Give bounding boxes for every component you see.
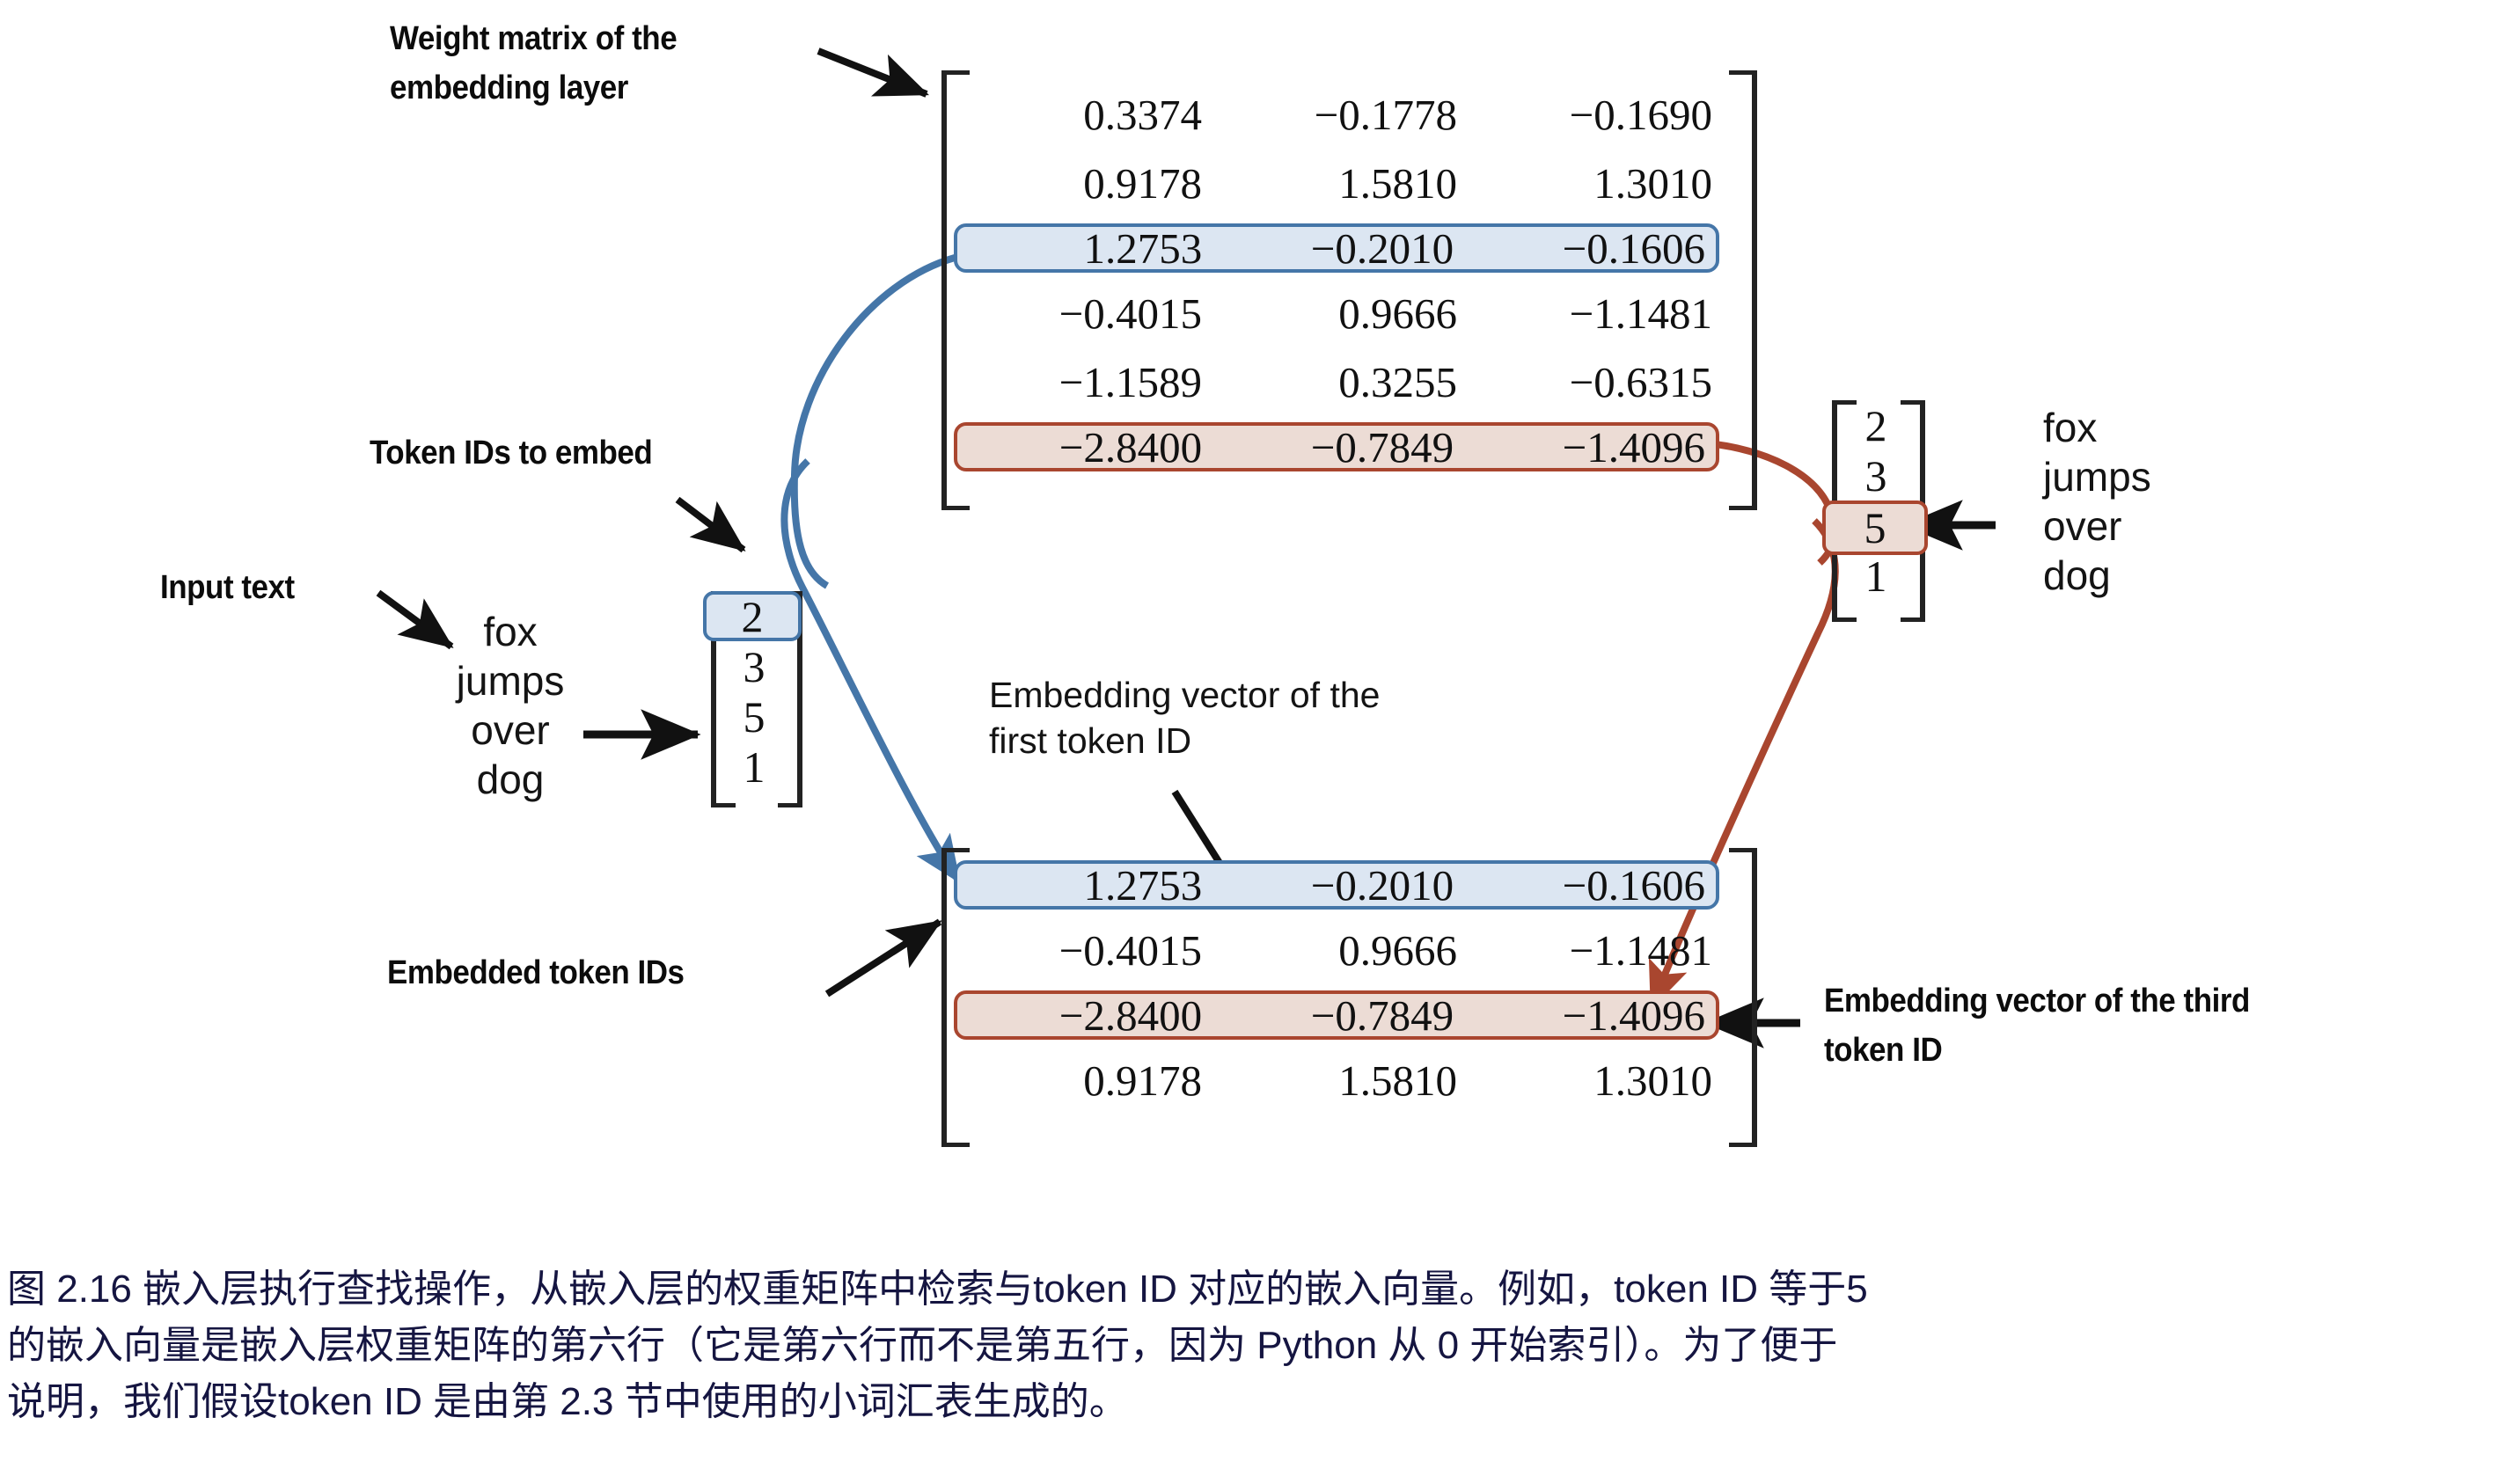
embedded-matrix-row-highlight-red: −2.8400 −0.7849 −1.4096 [954, 990, 1719, 1040]
cell-e-0-0: 1.2753 [968, 860, 1202, 910]
caption-line-1: 图 2.16 嵌入层执行查找操作，从嵌入层的权重矩阵中检索与token ID 对… [7, 1261, 2513, 1318]
token-id-right-1: 3 [1835, 450, 1916, 501]
right-word-dog: dog [2043, 551, 2237, 600]
right-words: fox jumps over dog [2043, 403, 2237, 600]
cell-w-3-1: 0.9666 [1202, 289, 1457, 339]
token-id-right-0-value: 2 [1865, 400, 1887, 451]
token-id-right-2: 5 [1822, 501, 1928, 555]
arrow-weight-matrix [818, 51, 927, 94]
label-embedded-token-ids: Embedded token IDs [387, 948, 840, 997]
cell-w-2-2: −0.1606 [1454, 223, 1705, 274]
cell-w-2-0: 1.2753 [968, 223, 1202, 274]
cell-w-3-2: −1.1481 [1457, 289, 1712, 339]
weight-matrix-row-highlight-blue: 1.2753 −0.2010 −0.1606 [954, 223, 1719, 273]
token-id-left-0: 2 [703, 591, 802, 641]
label-token-ids-to-embed: Token IDs to embed [370, 428, 790, 478]
weight-matrix-row: 0.3374 −0.1778 −0.1690 [954, 86, 1740, 142]
embedded-matrix-row-highlight-blue: 1.2753 −0.2010 −0.1606 [954, 860, 1719, 910]
weight-matrix-row: −0.4015 0.9666 −1.1481 [954, 285, 1740, 341]
token-id-left-3-value: 1 [744, 742, 766, 793]
blue-lookup-curve [795, 258, 955, 586]
arrow-embedded-token-ids [827, 922, 940, 994]
weight-matrix-row: 0.9178 1.5810 1.3010 [954, 155, 1740, 211]
cell-w-4-0: −1.1589 [964, 357, 1202, 407]
embedded-matrix-row: 0.9178 1.5810 1.3010 [954, 1052, 1740, 1108]
cell-w-5-2: −1.4096 [1454, 422, 1705, 472]
cell-w-1-1: 1.5810 [1202, 158, 1457, 208]
arrow-token-ids-to-embed [678, 500, 744, 550]
cell-e-3-2: 1.3010 [1457, 1056, 1712, 1106]
caption-line-2: 的嵌入向量是嵌入层权重矩阵的第六行（它是第六行而不是第五行，因为 Python … [7, 1318, 2513, 1374]
label-weight-matrix: Weight matrix of the embedding layer [390, 14, 810, 113]
token-id-right-3: 1 [1835, 551, 1916, 601]
label-input-text: Input text [160, 563, 436, 612]
cell-w-1-0: 0.9178 [964, 158, 1202, 208]
token-id-right-0: 2 [1835, 400, 1916, 450]
input-word-dog: dog [440, 755, 581, 804]
caption-line-3: 说明，我们假设token ID 是由第 2.3 节中使用的小词汇表生成的。 [7, 1374, 2513, 1430]
right-word-fox: fox [2043, 403, 2237, 452]
right-word-jumps: jumps [2043, 452, 2237, 501]
label-embedding-vector-third: Embedding vector of the third token ID [1824, 976, 2472, 1075]
input-word-fox: fox [440, 607, 581, 656]
weight-matrix-row: −1.1589 0.3255 −0.6315 [954, 354, 1740, 410]
input-word-jumps: jumps [440, 656, 581, 705]
cell-e-3-0: 0.9178 [964, 1056, 1202, 1106]
token-id-right-3-value: 1 [1865, 551, 1887, 602]
token-id-left-3: 1 [714, 742, 794, 792]
cell-e-3-1: 1.5810 [1202, 1056, 1457, 1106]
cell-w-0-1: −0.1778 [1202, 90, 1457, 140]
token-id-left-2: 5 [714, 691, 794, 742]
cell-w-2-1: −0.2010 [1202, 223, 1454, 274]
cell-e-1-2: −1.1481 [1457, 925, 1712, 975]
token-id-vector-right: 2 3 5 1 [1835, 400, 1923, 601]
cell-e-2-2: −1.4096 [1454, 990, 1705, 1041]
input-word-over: over [440, 705, 581, 755]
label-embedding-vector-first: Embedding vector of the first token ID [989, 672, 1623, 764]
figure-caption: 图 2.16 嵌入层执行查找操作，从嵌入层的权重矩阵中检索与token ID 对… [7, 1261, 2513, 1430]
blue-lookup-curve-2 [784, 461, 959, 881]
weight-matrix-row-highlight-red: −2.8400 −0.7849 −1.4096 [954, 422, 1719, 471]
cell-e-1-0: −0.4015 [964, 925, 1202, 975]
input-text-words: fox jumps over dog [440, 607, 581, 804]
cell-w-4-1: 0.3255 [1202, 357, 1457, 407]
token-id-left-1-value: 3 [744, 641, 766, 692]
token-id-left-1: 3 [714, 641, 794, 691]
cell-e-2-0: −2.8400 [968, 990, 1202, 1041]
token-id-left-2-value: 5 [744, 691, 766, 742]
token-id-right-2-value: 5 [1864, 502, 1886, 553]
cell-w-0-0: 0.3374 [964, 90, 1202, 140]
cell-w-3-0: −0.4015 [964, 289, 1202, 339]
cell-e-0-2: −0.1606 [1454, 860, 1705, 910]
cell-e-2-1: −0.7849 [1202, 990, 1454, 1041]
cell-e-1-1: 0.9666 [1202, 925, 1457, 975]
token-id-left-0-value: 2 [742, 591, 764, 642]
token-id-vector-left: 2 3 5 1 [714, 591, 802, 792]
cell-w-1-2: 1.3010 [1457, 158, 1712, 208]
figure-canvas: Weight matrix of the embedding layer Tok… [0, 0, 2520, 1476]
embedded-matrix-row: −0.4015 0.9666 −1.1481 [954, 922, 1740, 978]
token-id-right-1-value: 3 [1865, 450, 1887, 501]
cell-w-5-0: −2.8400 [968, 422, 1202, 472]
cell-e-0-1: −0.2010 [1202, 860, 1454, 910]
right-word-over: over [2043, 501, 2237, 551]
cell-w-5-1: −0.7849 [1202, 422, 1454, 472]
cell-w-0-2: −0.1690 [1457, 90, 1712, 140]
cell-w-4-2: −0.6315 [1457, 357, 1712, 407]
